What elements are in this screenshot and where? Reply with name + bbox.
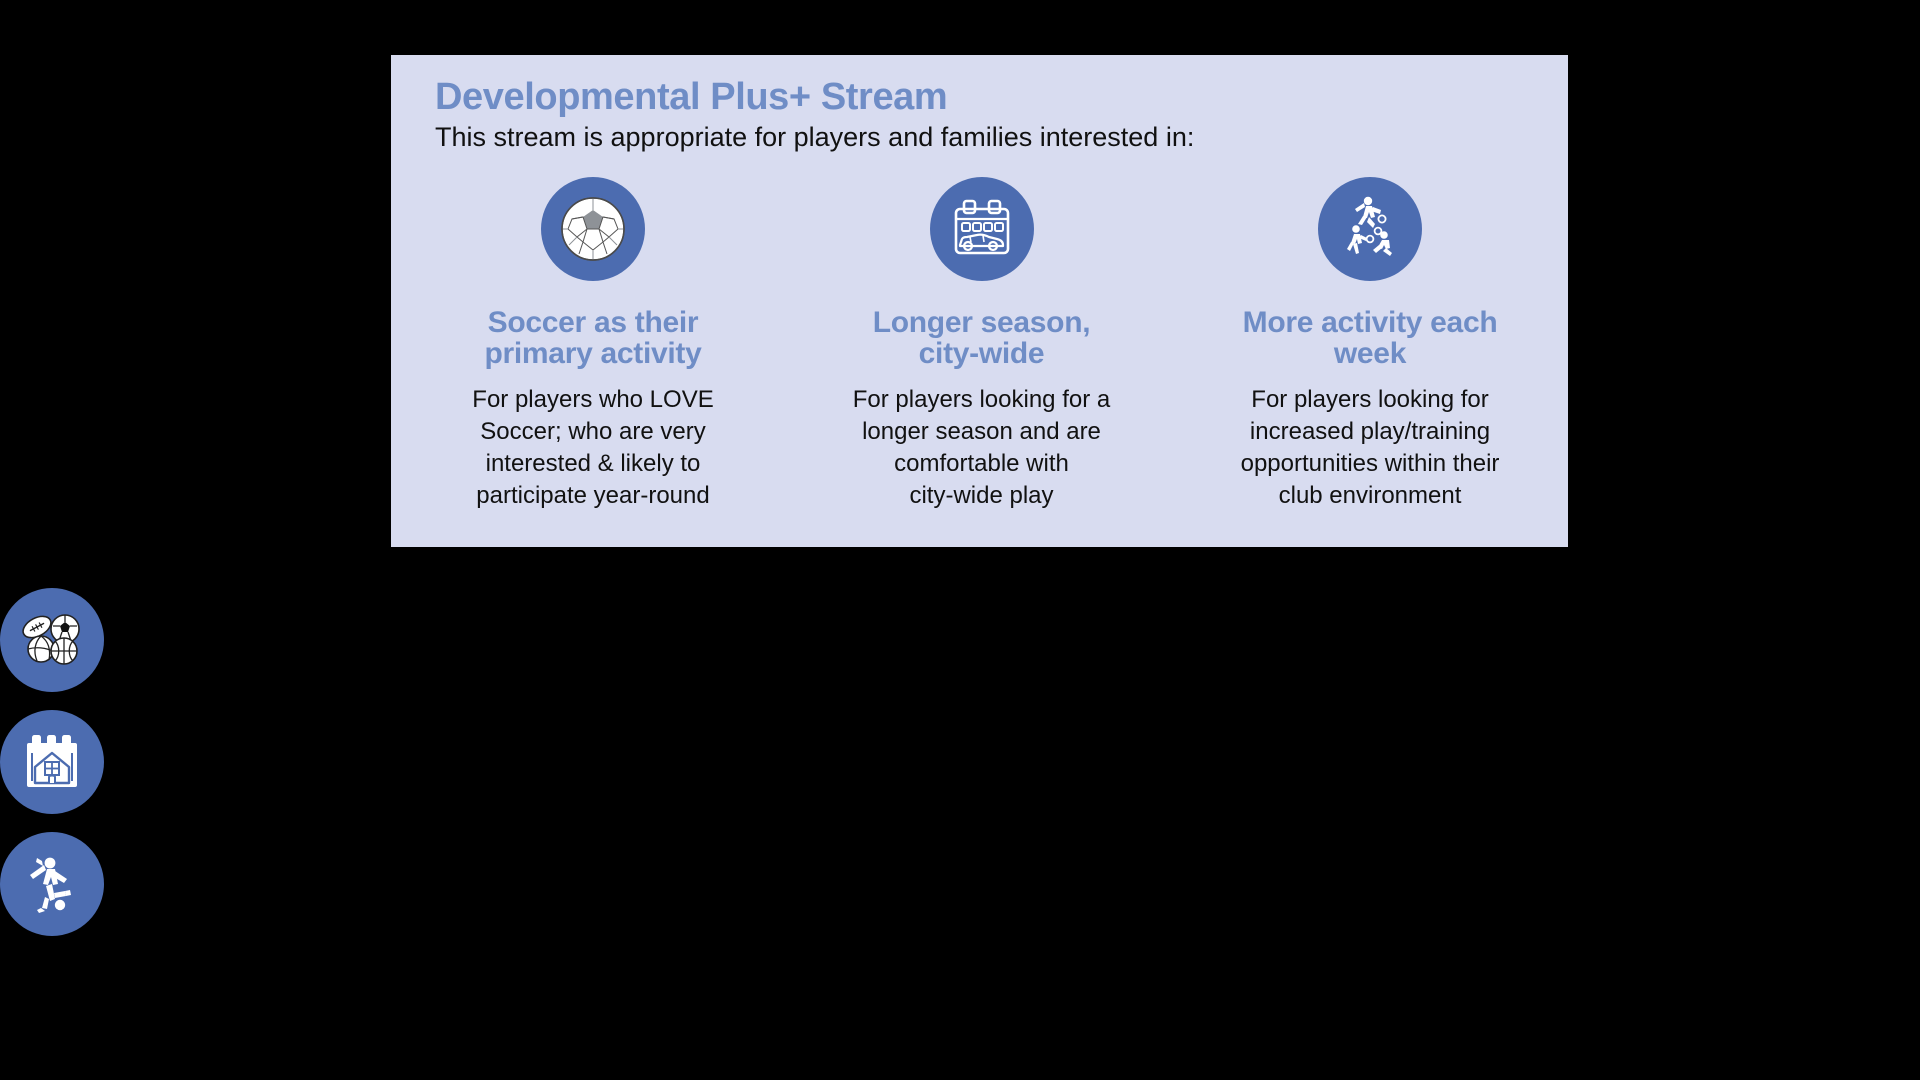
dev-column-less-activity: Less activity each week bbox=[0, 832, 1920, 954]
plus-column-more-activity: More activity each week For players look… bbox=[1220, 177, 1520, 512]
developmental-stream-title: Developmental Stream bbox=[0, 570, 1920, 588]
plus-column-heading: More activity each week bbox=[1243, 307, 1498, 371]
three-players-icon bbox=[1318, 177, 1422, 281]
plus-stream-title: Developmental Plus+ Stream bbox=[435, 77, 1528, 119]
plus-column-soccer-primary: Soccer as their primary activity For pla… bbox=[443, 177, 743, 512]
plus-stream-subtitle: This stream is appropriate for players a… bbox=[435, 121, 1528, 155]
dev-column-heading: Less activity each week bbox=[0, 936, 1920, 954]
multi-sports-balls-icon bbox=[0, 588, 104, 692]
dev-column-shorter-season: Shorter season, quadrant based bbox=[0, 710, 1920, 832]
plus-column-body: For players looking for a longer season … bbox=[853, 384, 1110, 512]
single-player-icon bbox=[0, 832, 104, 936]
calendar-car-icon bbox=[930, 177, 1034, 281]
lower-divider-1 bbox=[0, 954, 1920, 1080]
plus-column-body: For players who LOVE Soccer; who are ver… bbox=[472, 384, 713, 512]
plus-column-longer-season: Longer season, city-wide For players loo… bbox=[832, 177, 1132, 512]
soccer-ball-icon bbox=[541, 177, 645, 281]
dev-column-variety-sports: A variety of Sports or activities bbox=[0, 588, 1920, 710]
plus-stream-columns: Soccer as their primary activity For pla… bbox=[435, 177, 1528, 512]
developmental-stream-columns: A variety of Sports or activities Shorte… bbox=[0, 588, 1920, 954]
dev-column-heading: Shorter season, quadrant based bbox=[0, 814, 1920, 832]
plus-column-heading: Longer season, city-wide bbox=[873, 307, 1091, 371]
calendar-house-icon bbox=[0, 710, 104, 814]
developmental-plus-stream-panel: Developmental Plus+ Stream This stream i… bbox=[391, 55, 1568, 547]
dev-column-heading: A variety of Sports or activities bbox=[0, 692, 1920, 710]
plus-column-heading: Soccer as their primary activity bbox=[485, 307, 702, 371]
plus-column-body: For players looking for increased play/t… bbox=[1241, 384, 1500, 512]
